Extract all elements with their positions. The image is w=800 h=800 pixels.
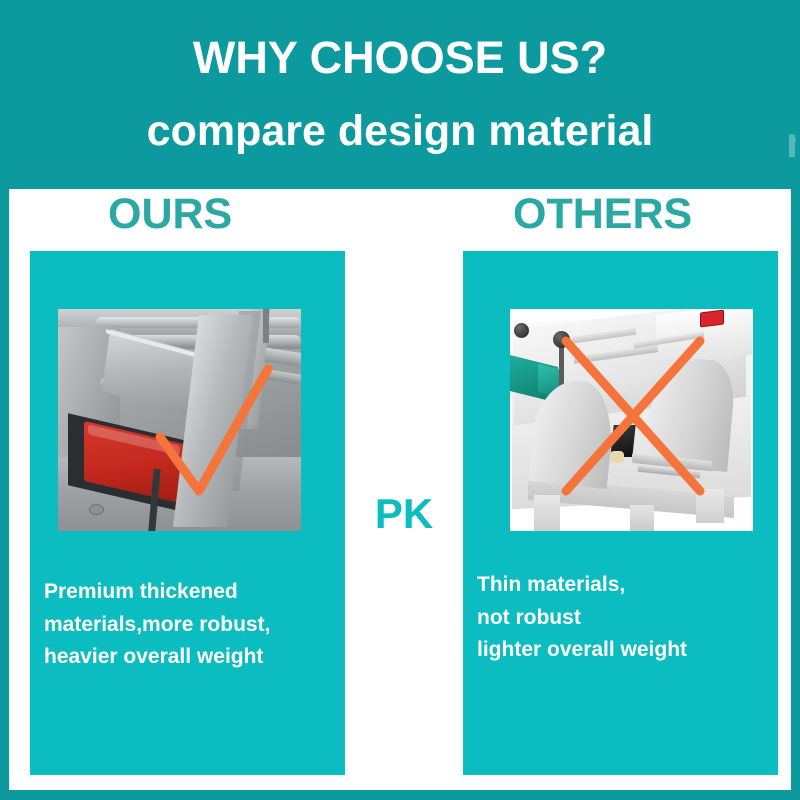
card-line: Thin materials, [477, 569, 769, 602]
card-description-ours: Premium thickened materials,more robust,… [44, 576, 336, 674]
poster-canvas: WHY CHOOSE US? compare design material m… [0, 0, 800, 800]
product-photo-ours [58, 309, 301, 531]
header-banner: WHY CHOOSE US? compare design material m [0, 0, 800, 189]
column-heading-ours: OURS [108, 193, 232, 236]
card-line: lighter overall weight [477, 634, 769, 667]
orange-cross-icon [510, 309, 753, 531]
page-title: WHY CHOOSE US? [0, 35, 800, 80]
page-subtitle: compare design material [0, 110, 800, 153]
card-description-others: Thin materials, not robust lighter overa… [477, 569, 769, 667]
column-heading-others: OTHERS [513, 193, 692, 236]
card-line: heavier overall weight [44, 641, 336, 674]
card-line: not robust [477, 602, 769, 635]
card-line: materials,more robust, [44, 609, 336, 642]
card-line: Premium thickened [44, 576, 336, 609]
product-photo-others [510, 309, 753, 531]
orange-check-icon [58, 309, 301, 531]
clipped-edge-text: m [786, 122, 796, 165]
comparison-card-ours: Premium thickened materials,more robust,… [30, 251, 345, 775]
comparison-card-others: Thin materials, not robust lighter overa… [463, 251, 778, 775]
versus-label: PK [345, 493, 463, 535]
